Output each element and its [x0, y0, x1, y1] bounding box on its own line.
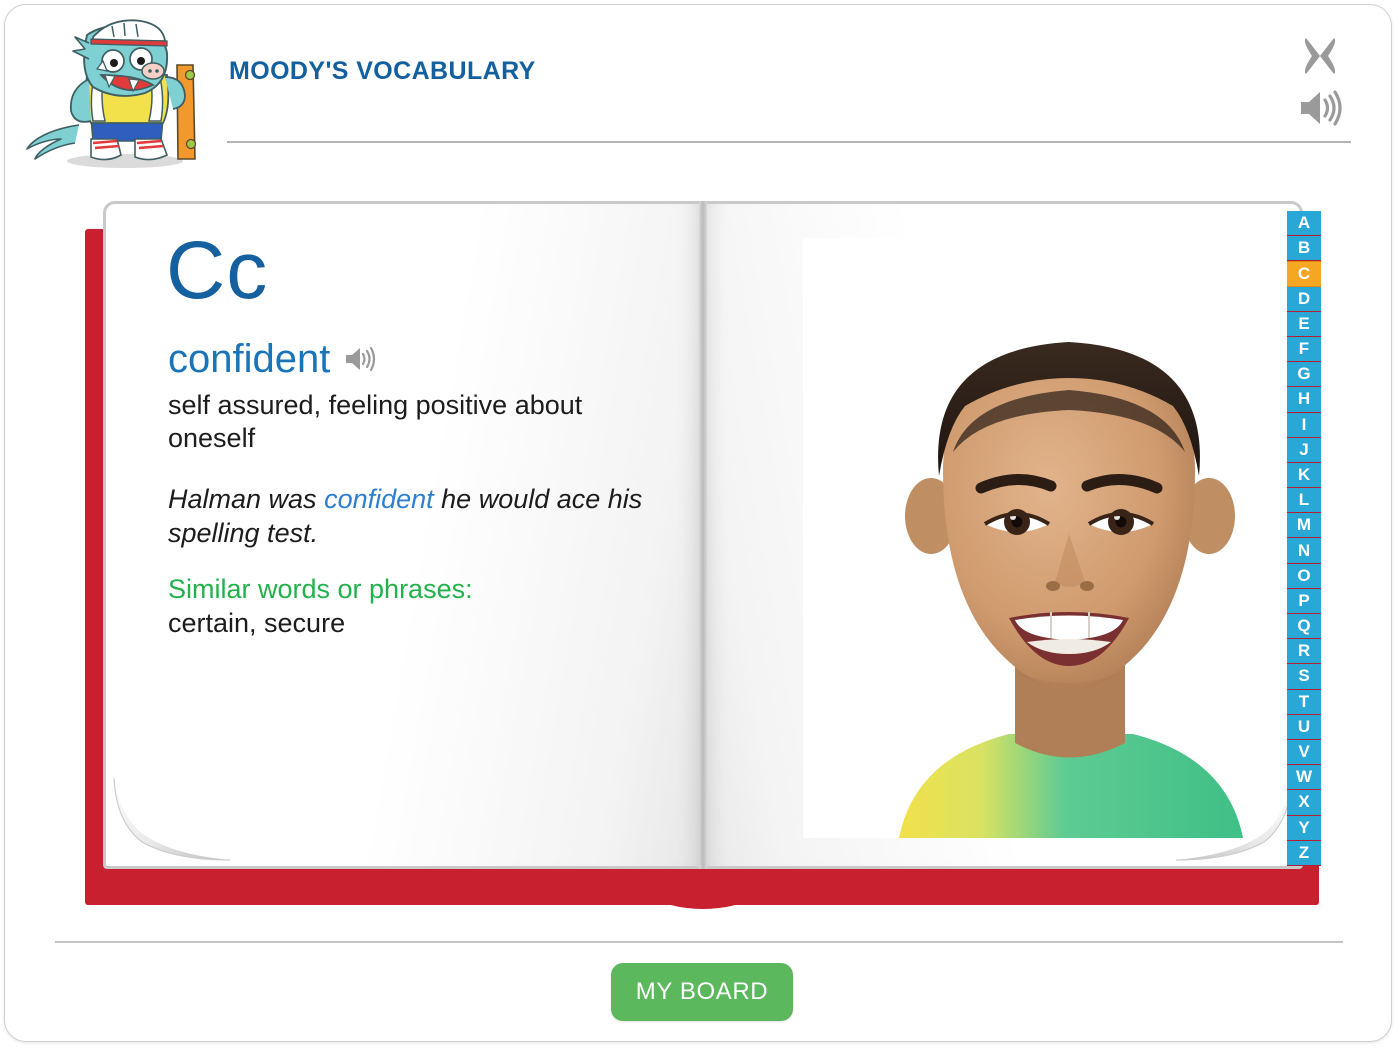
alphabet-tab-i[interactable]: I [1287, 413, 1321, 438]
alphabet-tab-a[interactable]: A [1287, 211, 1321, 236]
alphabet-tab-f[interactable]: F [1287, 337, 1321, 362]
header-divider [227, 141, 1351, 143]
alphabet-tab-g[interactable]: G [1287, 362, 1321, 387]
alphabet-tab-l[interactable]: L [1287, 488, 1321, 513]
alphabet-tab-d[interactable]: D [1287, 287, 1321, 312]
example-sentence: Halman was confident he would ace his sp… [168, 482, 668, 550]
alphabet-tab-k[interactable]: K [1287, 463, 1321, 488]
footer-divider [55, 941, 1343, 943]
vocabulary-term: confident [168, 339, 330, 379]
alphabet-tab-v[interactable]: V [1287, 740, 1321, 765]
alphabet-tab-j[interactable]: J [1287, 438, 1321, 463]
page-title: MOODY'S VOCABULARY [229, 57, 536, 86]
app-header: MOODY'S VOCABULARY [5, 5, 1391, 155]
alphabet-tab-r[interactable]: R [1287, 639, 1321, 664]
alphabet-tab-z[interactable]: Z [1287, 841, 1321, 866]
alphabet-index[interactable]: ABCDEFGHIJKLMNOPQRSTUVWXYZ [1287, 211, 1321, 866]
book-page-left: Cc confident self assured, feeling posit… [103, 201, 703, 869]
alphabet-tab-h[interactable]: H [1287, 387, 1321, 412]
word-row: confident [168, 339, 378, 379]
speaker-icon[interactable] [344, 345, 378, 373]
alphabet-tab-p[interactable]: P [1287, 589, 1321, 614]
alphabet-tab-x[interactable]: X [1287, 790, 1321, 815]
close-icon[interactable] [1297, 33, 1343, 79]
moody-monster-mascot-icon [17, 13, 217, 173]
alphabet-tab-c[interactable]: C [1287, 261, 1321, 286]
alphabet-tab-w[interactable]: W [1287, 765, 1321, 790]
my-board-button[interactable]: MY BOARD [611, 963, 793, 1021]
alphabet-tab-q[interactable]: Q [1287, 614, 1321, 639]
page-curl-left-icon [112, 776, 232, 862]
open-book: Cc confident self assured, feeling posit… [85, 201, 1319, 921]
alphabet-tab-s[interactable]: S [1287, 664, 1321, 689]
definition-text: self assured, feeling positive about one… [168, 389, 668, 455]
alphabet-tab-e[interactable]: E [1287, 312, 1321, 337]
app-window: MOODY'S VOCABULARY Cc confident [4, 4, 1392, 1042]
alphabet-tab-u[interactable]: U [1287, 715, 1321, 740]
example-before: Halman was [168, 484, 324, 514]
example-highlight-word: confident [324, 484, 434, 514]
alphabet-tab-m[interactable]: M [1287, 513, 1321, 538]
letter-heading: Cc [166, 230, 268, 312]
alphabet-tab-y[interactable]: Y [1287, 816, 1321, 841]
vocabulary-photo [803, 238, 1303, 838]
alphabet-tab-o[interactable]: O [1287, 564, 1321, 589]
book-page-right [703, 201, 1303, 869]
volume-icon[interactable] [1297, 87, 1343, 129]
alphabet-tab-b[interactable]: B [1287, 236, 1321, 261]
alphabet-tab-n[interactable]: N [1287, 538, 1321, 563]
book-gutter [699, 201, 707, 869]
similar-words-label: Similar words or phrases: [168, 574, 473, 605]
similar-words-list: certain, secure [168, 608, 345, 639]
alphabet-tab-t[interactable]: T [1287, 690, 1321, 715]
